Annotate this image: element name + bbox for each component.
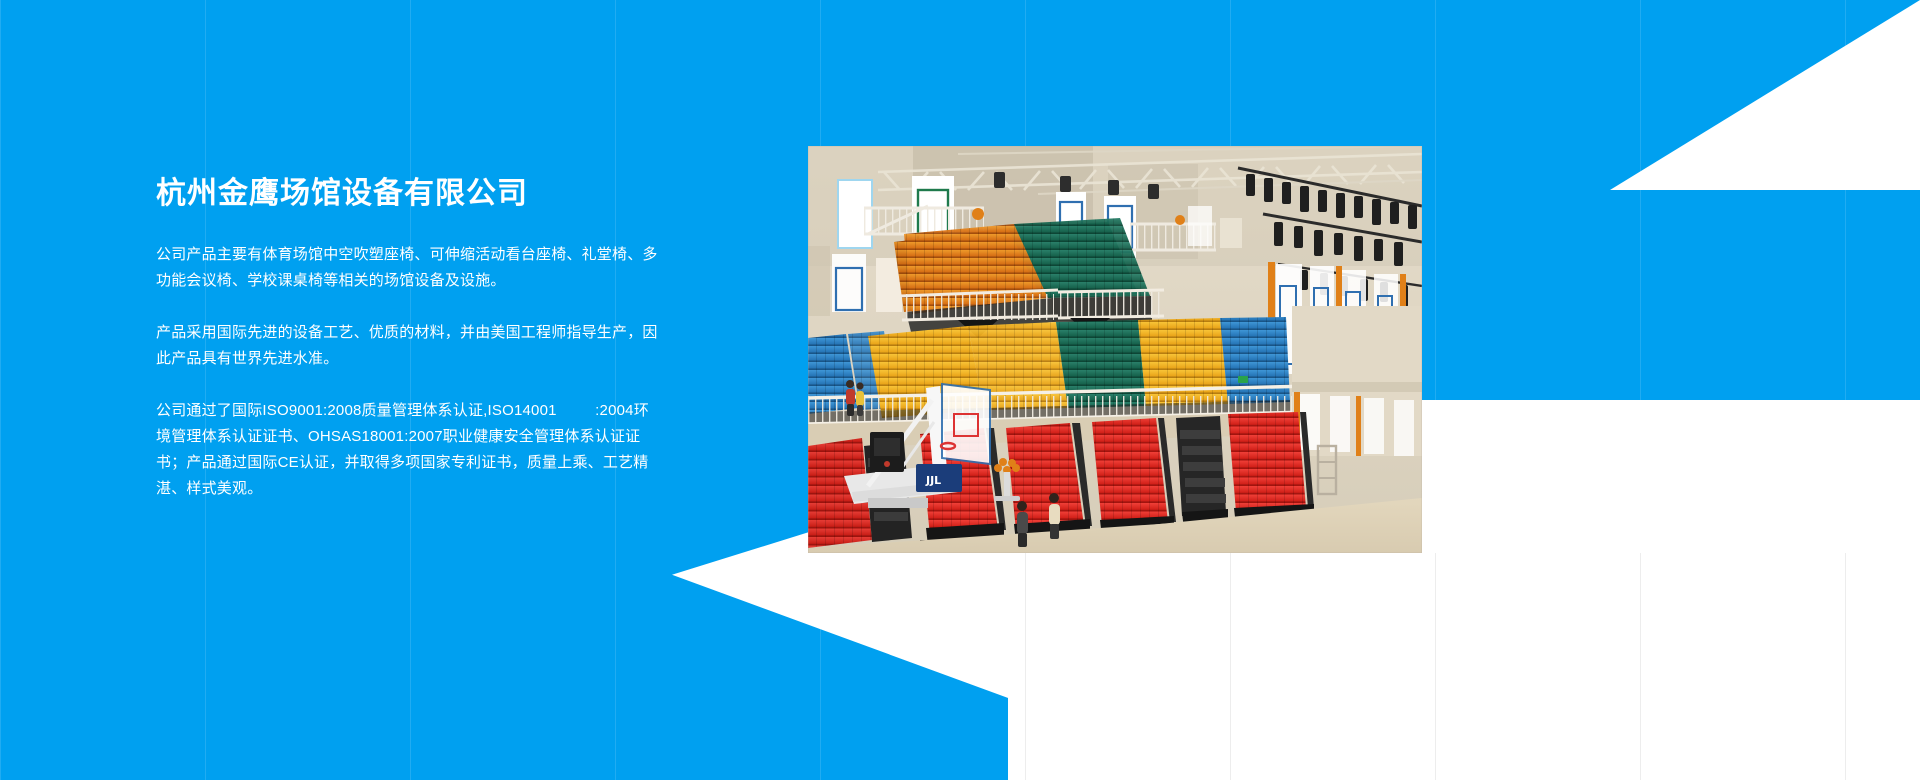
intro-paragraph-products: 公司产品主要有体育场馆中空吹塑座椅、可伸缩活动看台座椅、礼堂椅、多功能会议椅、学… (156, 242, 661, 294)
gymnasium-photo-illustration: JJL (808, 146, 1422, 553)
intro-paragraph-technology: 产品采用国际先进的设备工艺、优质的材料，并由美国工程师指导生产，因此产品具有世界… (156, 320, 661, 372)
page-title: 杭州金鹰场馆设备有限公司 (156, 176, 661, 212)
svg-text:JJL: JJL (925, 474, 941, 487)
gymnasium-photo: JJL (808, 146, 1422, 553)
hero-banner: 杭州金鹰场馆设备有限公司 公司产品主要有体育场馆中空吹塑座椅、可伸缩活动看台座椅… (0, 0, 1920, 780)
intro-paragraph-certifications: 公司通过了国际ISO9001:2008质量管理体系认证,ISO14001 :20… (156, 398, 661, 502)
company-intro-block: 杭州金鹰场馆设备有限公司 公司产品主要有体育场馆中空吹塑座椅、可伸缩活动看台座椅… (156, 176, 661, 502)
